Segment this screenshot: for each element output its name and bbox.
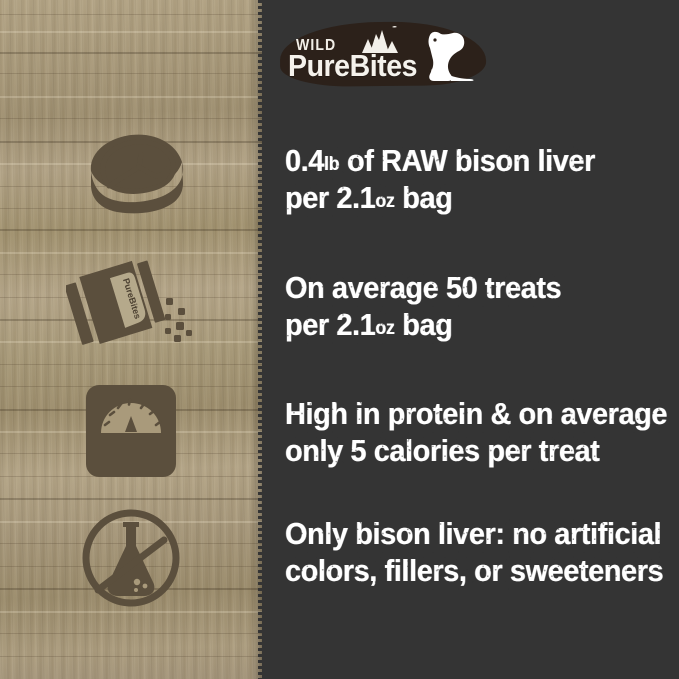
feature-1-line2-pre: per 2.1 xyxy=(285,180,375,215)
feature-3-line2-pre: only 5 calories per treat xyxy=(285,433,599,468)
brand-logo: WILD PureBites ® xyxy=(280,22,486,86)
feature-1-line2-post: bag xyxy=(395,180,453,215)
steak-meat-icon xyxy=(73,127,189,221)
feature-4-line2-pre: colors, fillers, or sweeteners xyxy=(285,553,663,588)
feature-2-line1-pre: On average 50 treats xyxy=(285,270,561,305)
feature-1-unit-oz: oz xyxy=(375,191,394,212)
sitting-dog-icon xyxy=(418,28,480,86)
feature-icon-4 xyxy=(0,503,262,613)
feature-text-1-line-2: per 2.1oz bag xyxy=(285,180,452,221)
feature-4-line1-pre: Only bison liver: no artificial xyxy=(285,516,661,551)
feature-text-3-line-1: High in protein & on average xyxy=(285,396,667,437)
feature-1-line1-pre: 0.4 xyxy=(285,143,324,178)
feature-2-line2-pre: per 2.1 xyxy=(285,307,375,342)
feature-icon-3 xyxy=(0,378,262,484)
feature-text-2-line-1: On average 50 treats xyxy=(285,270,561,311)
bird-icon xyxy=(392,26,397,28)
weight-scale-icon xyxy=(82,381,180,481)
dark-content-panel: WILD PureBites ® 0.4lb of RAW bison live… xyxy=(262,0,679,679)
feature-text-2-line-2: per 2.1oz bag xyxy=(285,307,452,348)
feature-text-4-line-1: Only bison liver: no artificial xyxy=(285,516,661,557)
product-feature-infographic: PureBites xyxy=(0,0,679,679)
icon-column: PureBites xyxy=(0,0,262,679)
treat-bag-icon: PureBites xyxy=(66,256,196,352)
feature-2-line2-post: bag xyxy=(395,307,453,342)
logo-brand-word: PureBites xyxy=(288,48,417,84)
feature-1-line1-post: of RAW bison liver xyxy=(339,143,595,178)
feature-icon-2: PureBites xyxy=(0,254,262,354)
feature-2-unit-oz: oz xyxy=(375,318,394,339)
feature-text-3-line-2: only 5 calories per treat xyxy=(285,433,599,474)
feature-icon-1 xyxy=(0,124,262,224)
feature-text-4-line-2: colors, fillers, or sweeteners xyxy=(285,553,663,594)
feature-text-1-line-1: 0.4lb of RAW bison liver xyxy=(285,143,595,184)
feature-1-unit-lb: lb xyxy=(324,154,339,175)
feature-3-line1-pre: High in protein & on average xyxy=(285,396,667,431)
no-chemicals-icon xyxy=(79,506,183,610)
